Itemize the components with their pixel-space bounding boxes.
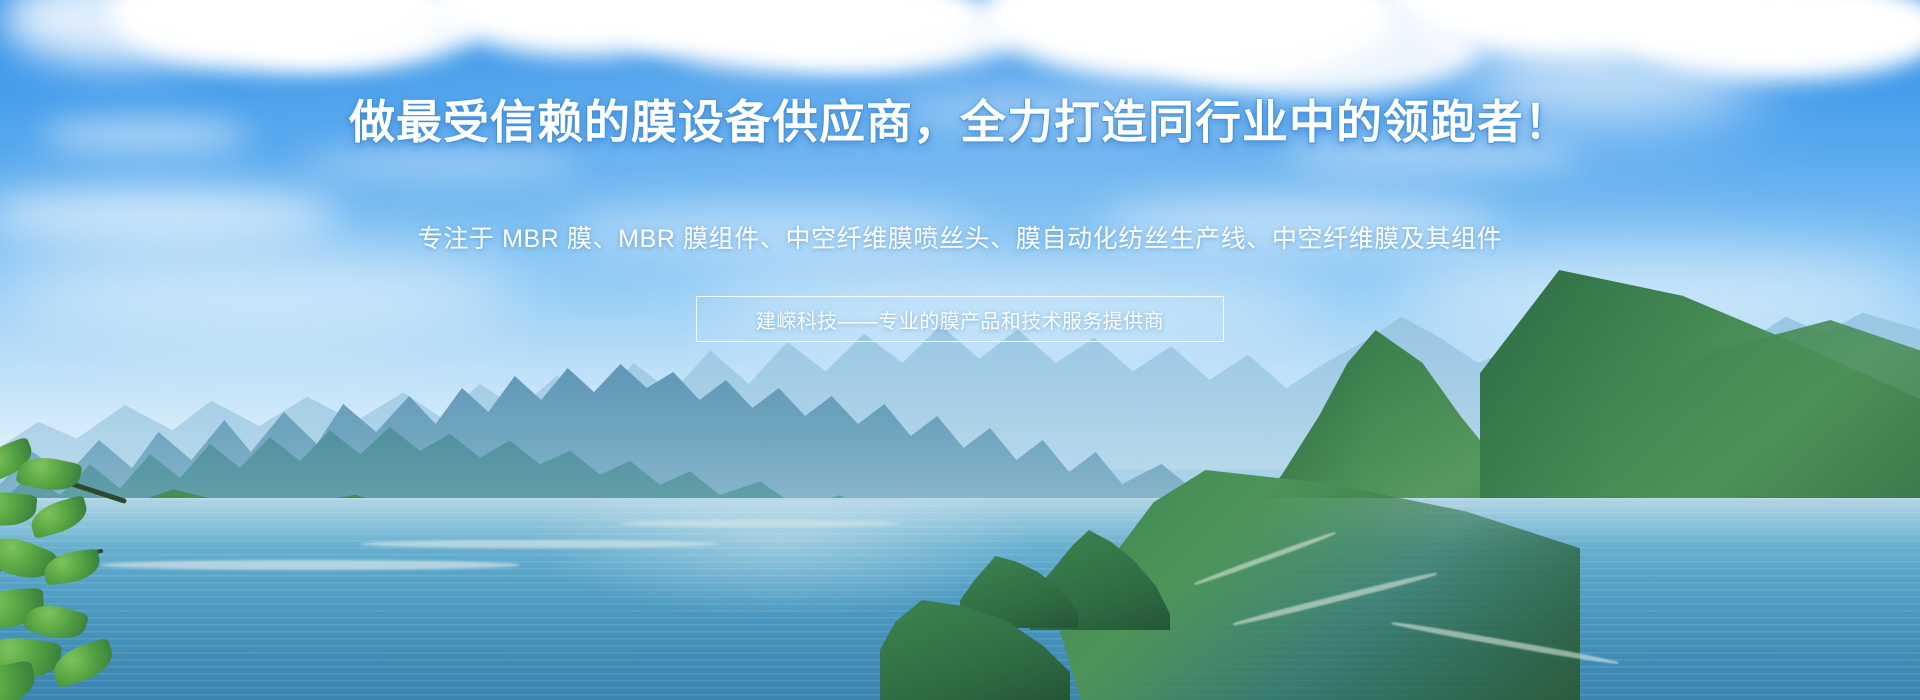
banner-cta-label: 建嵘科技——专业的膜产品和技术服务提供商 bbox=[756, 305, 1164, 334]
banner-text-overlay: 做最受信赖的膜设备供应商，全力打造同行业中的领跑者！ 专注于 MBR 膜、MBR… bbox=[0, 0, 1920, 700]
hero-banner: 做最受信赖的膜设备供应商，全力打造同行业中的领跑者！ 专注于 MBR 膜、MBR… bbox=[0, 0, 1920, 700]
banner-cta-container: 建嵘科技——专业的膜产品和技术服务提供商 bbox=[0, 296, 1920, 342]
banner-headline: 做最受信赖的膜设备供应商，全力打造同行业中的领跑者！ bbox=[0, 96, 1920, 148]
banner-subtitle: 专注于 MBR 膜、MBR 膜组件、中空纤维膜喷丝头、膜自动化纺丝生产线、中空纤… bbox=[0, 222, 1920, 256]
banner-cta-box[interactable]: 建嵘科技——专业的膜产品和技术服务提供商 bbox=[696, 296, 1224, 342]
